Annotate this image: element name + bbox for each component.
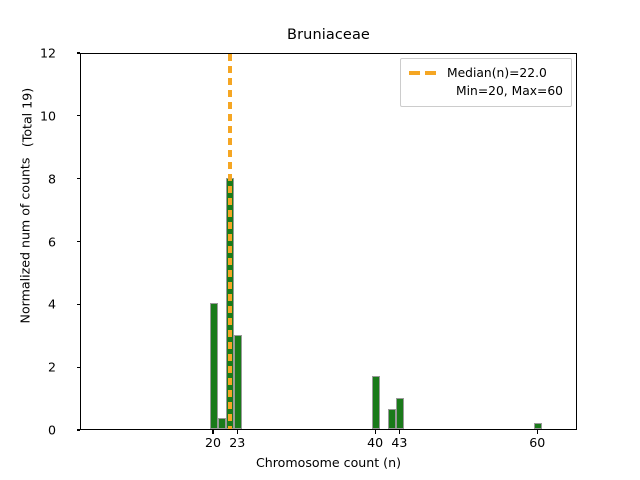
x-tick-label: 23	[229, 435, 245, 450]
x-tick-mark	[537, 430, 538, 434]
matplotlib-figure: Bruniaceae 024681012 2023404360 Chromoso…	[0, 0, 640, 480]
y-axis-total-label: (Total 19)	[20, 38, 35, 198]
x-tick-mark	[212, 430, 213, 434]
x-tick-label: 60	[529, 435, 545, 450]
legend-label-minmax: Min=20, Max=60	[456, 84, 563, 98]
dashed-line-icon	[409, 71, 439, 74]
x-tick-label: 40	[367, 435, 383, 450]
legend-item-minmax: Min=20, Max=60	[409, 82, 563, 100]
x-tick-label: 43	[391, 435, 407, 450]
x-axis-label: Chromosome count (n)	[80, 455, 577, 470]
median-line	[228, 54, 231, 429]
legend-item-median: Median(n)=22.0	[409, 64, 563, 82]
x-tick-mark	[399, 430, 400, 434]
legend-label-median: Median(n)=22.0	[447, 66, 547, 80]
x-tick-mark	[375, 430, 376, 434]
x-tick-label: 20	[205, 435, 221, 450]
x-tick-mark	[237, 430, 238, 434]
legend: Median(n)=22.0 Min=20, Max=60	[400, 58, 572, 107]
